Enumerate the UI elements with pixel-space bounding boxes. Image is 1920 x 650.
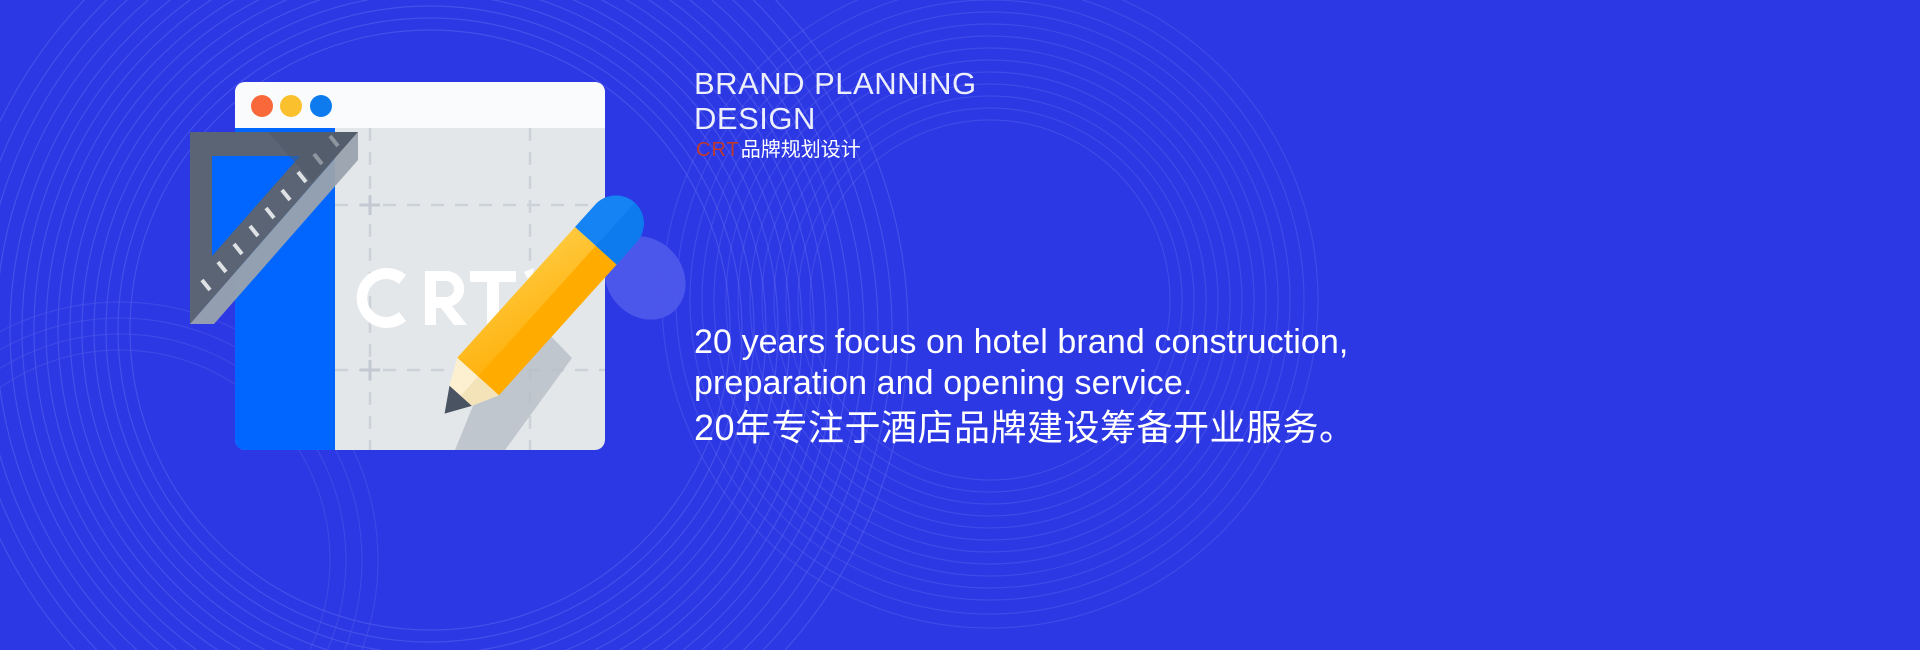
window-control-dots [251, 95, 332, 117]
tagline-chinese: 20年专注于酒店品牌建设筹备开业服务。 [694, 406, 1454, 450]
brand-mark-crt: CRT [696, 139, 740, 161]
minimize-dot [280, 95, 302, 117]
maximize-dot [310, 95, 332, 117]
tagline-english: 20 years focus on hotel brand constructi… [694, 322, 1454, 404]
brand-subtitle-cn: 品牌规划设计 [741, 139, 861, 161]
brand-subtitle: CRT品牌规划设计 [696, 138, 861, 162]
brand-banner: BRAND PLANNING DESIGN CRT品牌规划设计 20 years… [0, 0, 1920, 650]
banner-text-column: BRAND PLANNING DESIGN CRT品牌规划设计 20 years… [694, 0, 1874, 650]
page-title: BRAND PLANNING DESIGN [694, 66, 1454, 136]
close-dot [251, 95, 273, 117]
